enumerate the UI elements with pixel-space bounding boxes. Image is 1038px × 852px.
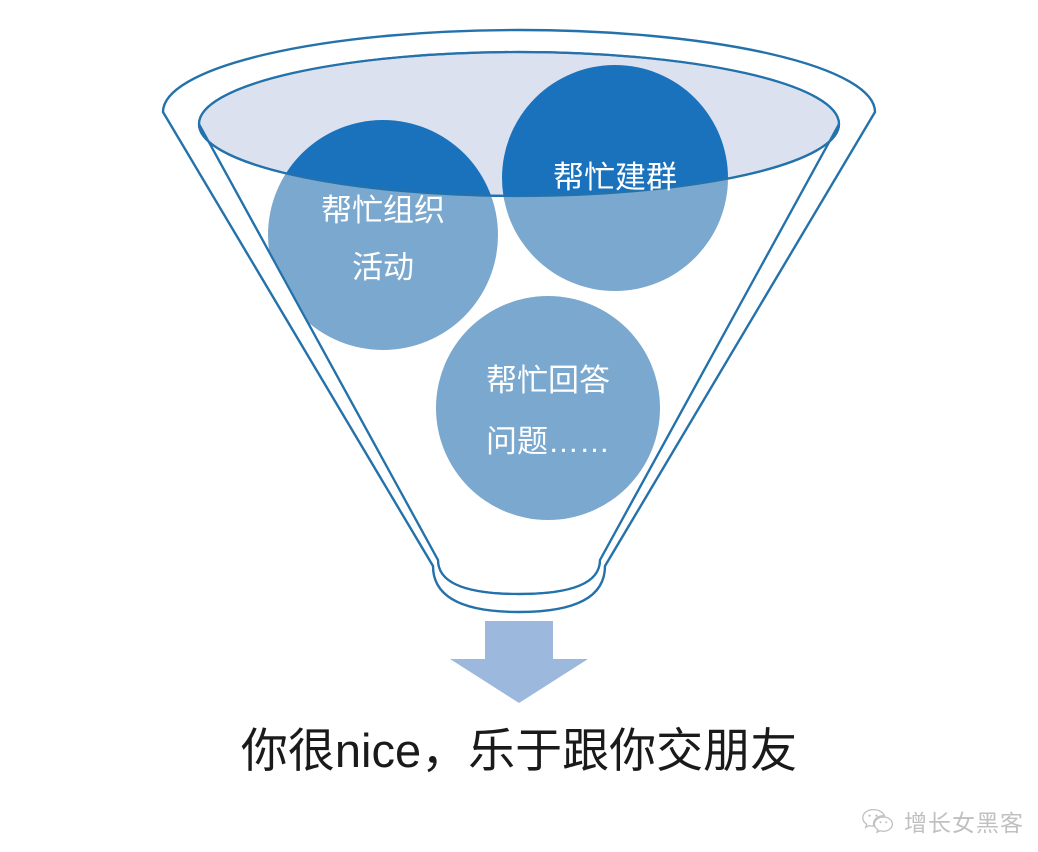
watermark-label: 增长女黑客 xyxy=(904,804,1024,838)
caption: 你很nice，乐于跟你交朋友 xyxy=(0,712,1038,781)
bubble-create-group-line-1: 帮忙建群 xyxy=(553,160,677,195)
bubble-answer-questions-base xyxy=(436,296,660,520)
bubble-create-group[interactable]: 帮忙建群 xyxy=(553,160,677,195)
bubble-organize-activity-line-1: 帮忙组织 xyxy=(321,193,445,228)
slide-canvas: 帮忙组织 活动 帮忙建群 帮忙回答 问题…… 你很nice，乐于跟你交朋友 xyxy=(0,0,1038,852)
bubble-answer-questions-line-2: 问题…… xyxy=(486,424,610,459)
bubble-answer-questions-line-1: 帮忙回答 xyxy=(486,363,610,398)
watermark: 增长女黑客 xyxy=(861,804,1024,838)
bubble-organize-activity-line-2: 活动 xyxy=(352,250,414,285)
down-arrow-icon xyxy=(450,621,588,703)
wechat-icon xyxy=(861,808,895,834)
